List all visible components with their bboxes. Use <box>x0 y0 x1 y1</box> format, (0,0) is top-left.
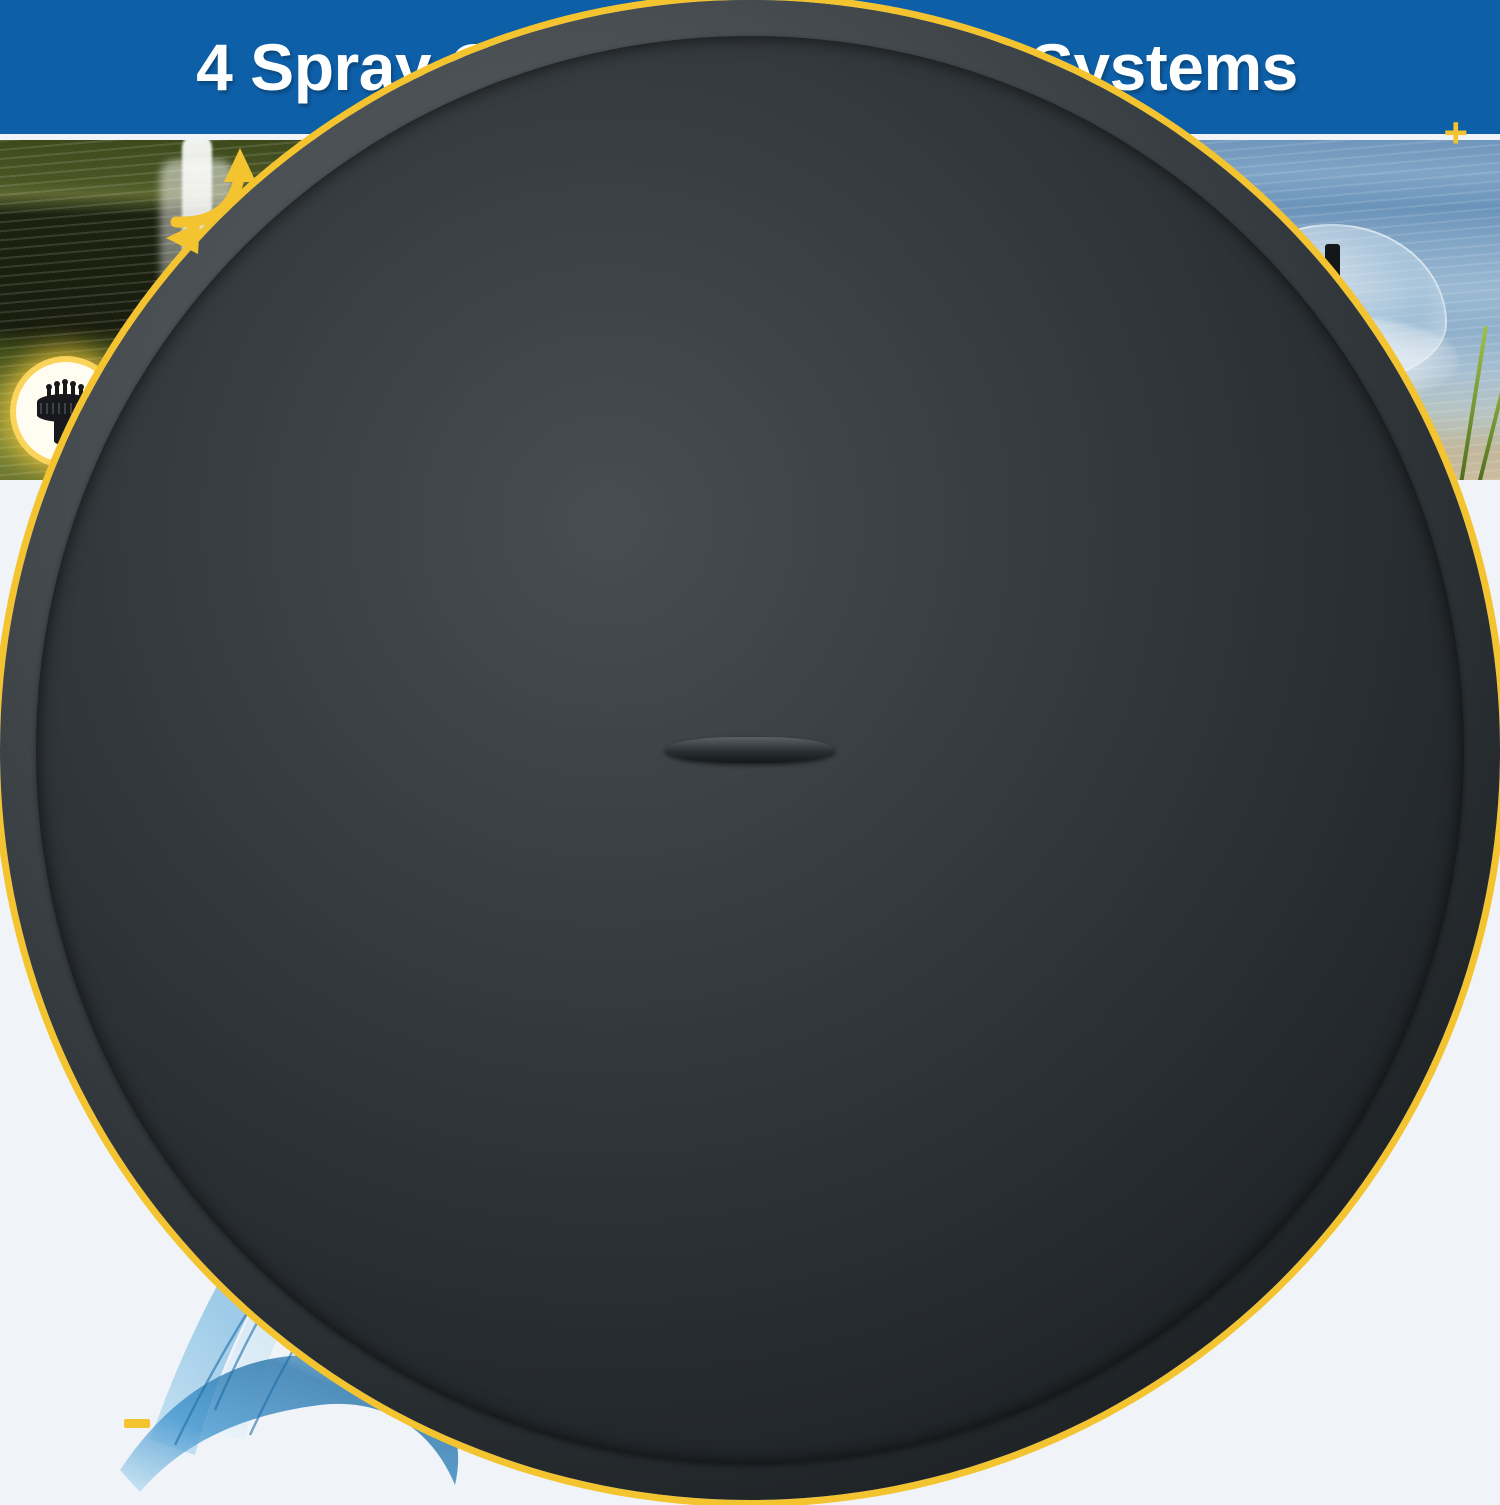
dial-rotation-arrow-icon <box>0 0 360 360</box>
dial-slot-grip <box>665 737 835 763</box>
dial-minus-label <box>124 1419 150 1428</box>
reed-blade <box>1477 357 1500 480</box>
dial-arrow-head-up <box>224 148 256 182</box>
dial-callout-circle: + <box>0 0 360 360</box>
dial-plus-label: + <box>1443 112 1468 154</box>
